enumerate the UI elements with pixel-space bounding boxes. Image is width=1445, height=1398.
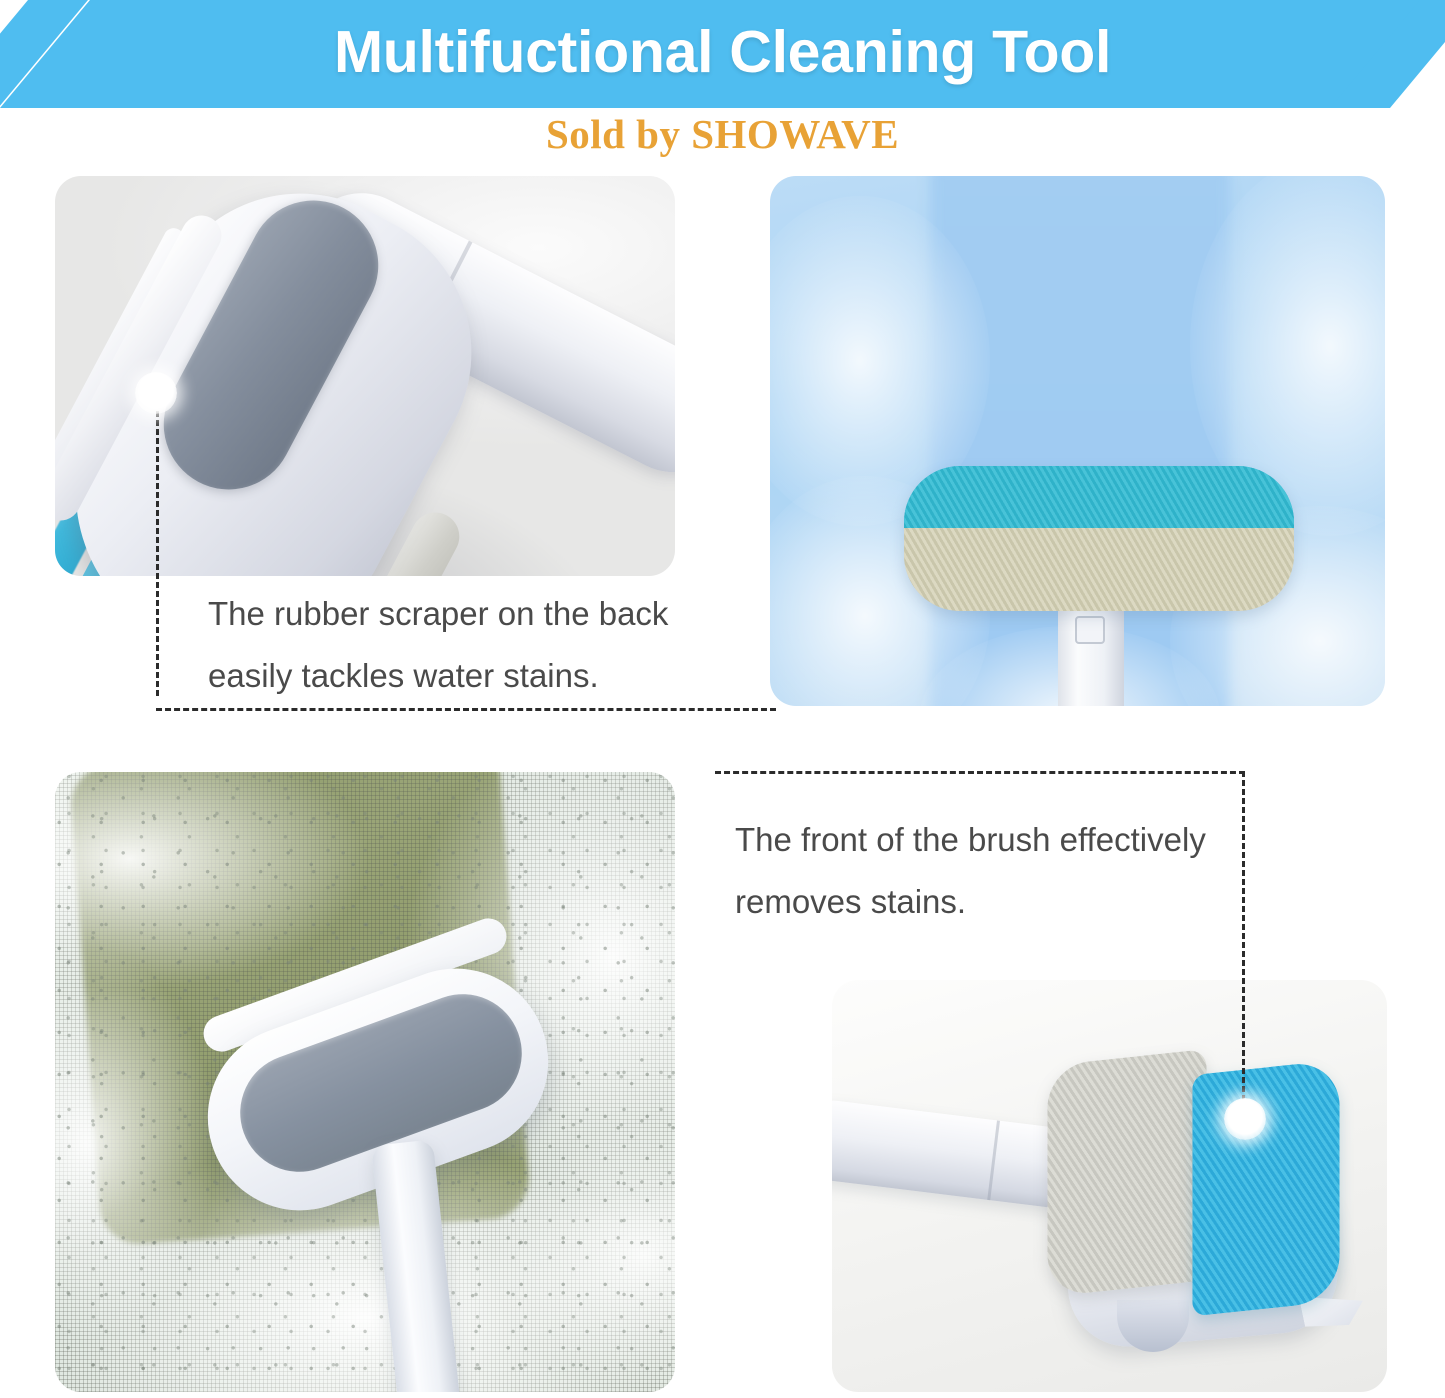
seller-subtitle: Sold by SHOWAVE [0, 110, 1445, 158]
callout-brush-front: The front of the brush effectively remov… [715, 771, 1245, 1119]
callout-text: The front of the brush effectively remov… [735, 809, 1247, 933]
photo2-beige-pad [904, 528, 1294, 611]
callout-marker-dot-icon [1224, 1098, 1266, 1140]
photo2-teal-pad [904, 466, 1294, 528]
callout-leader-line-vertical [156, 411, 159, 696]
page-title: Multifuctional Cleaning Tool [0, 0, 1445, 108]
callout-text-line2: easily tackles water stains. [208, 645, 738, 707]
product-infographic: Multifuctional Cleaning Tool Sold by SHO… [0, 0, 1445, 1398]
callout-rubber-scraper: The rubber scraper on the back easily ta… [156, 393, 776, 711]
photo-cleaning-window-screen [55, 772, 675, 1392]
callout-text-line1: The front of the brush effectively [735, 809, 1247, 871]
photo2-brush-head [904, 466, 1294, 611]
callout-text-line1: The rubber scraper on the back [208, 583, 738, 645]
header-banner: Multifuctional Cleaning Tool [0, 0, 1445, 108]
callout-text-line2: removes stains. [735, 871, 1247, 933]
callout-leader-line-horizontal [156, 708, 776, 711]
photo-brush-on-soapy-glass [770, 176, 1385, 706]
photo2-handle-button [1075, 616, 1105, 644]
callout-marker-dot-icon [135, 372, 177, 414]
callout-leader-line-horizontal [715, 771, 1245, 774]
callout-text: The rubber scraper on the back easily ta… [208, 583, 738, 707]
